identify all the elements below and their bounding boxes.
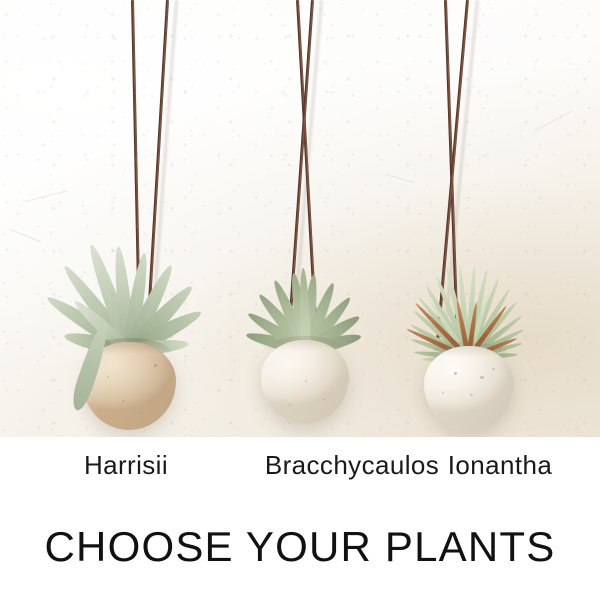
- plant-name-harrisii[interactable]: Harrisii: [0, 450, 252, 481]
- pot-speckle: [442, 392, 444, 394]
- pot-speckle: [140, 412, 142, 414]
- pot-speckle: [470, 394, 473, 396]
- hanging-planters-photo: [0, 0, 600, 437]
- pot-speckle: [289, 404, 291, 406]
- pot-speckle: [305, 380, 307, 382]
- pot-ionantha: [424, 346, 514, 432]
- plant-name-row: Harrisii Bracchycaulos Ionantha: [0, 437, 600, 489]
- pot-speckle: [480, 376, 484, 379]
- pot-speckle: [323, 398, 325, 400]
- pot-shading: [424, 346, 514, 432]
- pot-speckle: [454, 372, 457, 375]
- plant-name-ionantha[interactable]: Ionantha: [400, 450, 600, 481]
- caption-band: Harrisii Bracchycaulos Ionantha CHOOSE Y…: [0, 437, 600, 600]
- pot-speckle: [122, 400, 124, 402]
- headline: CHOOSE YOUR PLANTS: [0, 523, 600, 571]
- pot-speckle: [154, 364, 157, 367]
- pot-speckle: [107, 376, 109, 378]
- pot-speckle: [492, 368, 495, 370]
- product-image: Harrisii Bracchycaulos Ionantha CHOOSE Y…: [0, 0, 600, 600]
